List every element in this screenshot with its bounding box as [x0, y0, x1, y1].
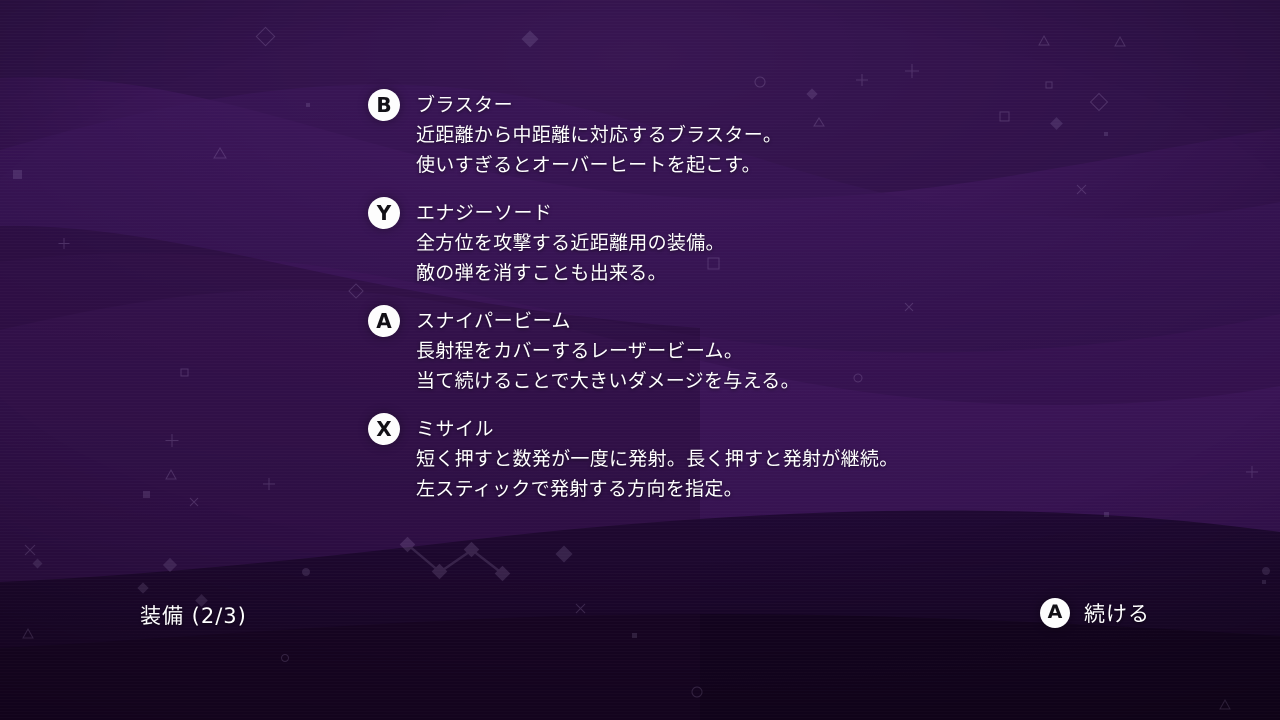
entry-description-line: 近距離から中距離に対応するブラスター。: [416, 120, 782, 150]
tutorial-entry-missile: X ミサイル 短く押すと数発が一度に発射。長く押すと発射が継続。 左スティックで…: [368, 414, 899, 504]
entry-description-line: 当て続けることで大きいダメージを与える。: [416, 366, 800, 396]
entry-description-line: 左スティックで発射する方向を指定。: [416, 474, 899, 504]
gamepad-button-a-icon[interactable]: A: [368, 305, 400, 337]
gamepad-button-a-icon[interactable]: A: [1040, 598, 1070, 628]
entry-text-block: ミサイル 短く押すと数発が一度に発射。長く押すと発射が継続。 左スティックで発射…: [416, 414, 899, 504]
continue-prompt[interactable]: A 続ける: [1040, 598, 1150, 628]
tutorial-content: B ブラスター 近距離から中距離に対応するブラスター。 使いすぎるとオーバーヒー…: [0, 0, 1280, 720]
continue-label: 続ける: [1084, 598, 1150, 628]
entry-title: エナジーソード: [416, 198, 725, 228]
entry-text-block: エナジーソード 全方位を攻撃する近距離用の装備。 敵の弾を消すことも出来る。: [416, 198, 725, 288]
entry-title: スナイパービーム: [416, 306, 800, 336]
entry-description-line: 全方位を攻撃する近距離用の装備。: [416, 228, 725, 258]
entry-description-line: 短く押すと数発が一度に発射。長く押すと発射が継続。: [416, 444, 899, 474]
entry-title: ブラスター: [416, 90, 782, 120]
entry-text-block: ブラスター 近距離から中距離に対応するブラスター。 使いすぎるとオーバーヒートを…: [416, 90, 782, 180]
entry-text-block: スナイパービーム 長射程をカバーするレーザービーム。 当て続けることで大きいダメ…: [416, 306, 800, 396]
entry-description-line: 長射程をカバーするレーザービーム。: [416, 336, 800, 366]
tutorial-entry-energy-sword: Y エナジーソード 全方位を攻撃する近距離用の装備。 敵の弾を消すことも出来る。: [368, 198, 725, 288]
gamepad-button-y-icon[interactable]: Y: [368, 197, 400, 229]
entry-description-line: 敵の弾を消すことも出来る。: [416, 258, 725, 288]
tutorial-entry-blaster: B ブラスター 近距離から中距離に対応するブラスター。 使いすぎるとオーバーヒー…: [368, 90, 782, 180]
tutorial-entry-sniper-beam: A スナイパービーム 長射程をカバーするレーザービーム。 当て続けることで大きい…: [368, 306, 800, 396]
page-indicator: 装備 (2/3): [140, 600, 247, 630]
entry-title: ミサイル: [416, 414, 899, 444]
gamepad-button-x-icon[interactable]: X: [368, 413, 400, 445]
entry-description-line: 使いすぎるとオーバーヒートを起こす。: [416, 150, 782, 180]
tutorial-screen: B ブラスター 近距離から中距離に対応するブラスター。 使いすぎるとオーバーヒー…: [0, 0, 1280, 720]
gamepad-button-b-icon[interactable]: B: [368, 89, 400, 121]
